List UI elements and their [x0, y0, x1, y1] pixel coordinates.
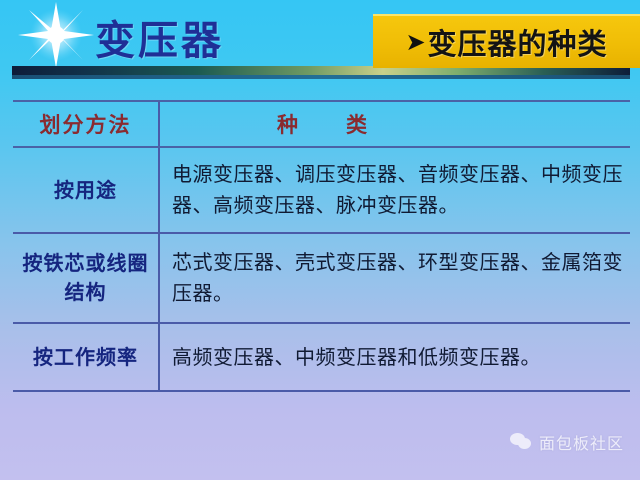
row-method-label: 按铁芯或线圈结构: [17, 249, 154, 307]
table-cell-method: 按用途: [13, 148, 160, 232]
row-method-label: 按工作频率: [33, 343, 138, 372]
table-cell-kinds: 芯式变压器、壳式变压器、环型变压器、金属箔变压器。: [160, 234, 630, 322]
table-row: 按铁芯或线圈结构 芯式变压器、壳式变压器、环型变压器、金属箔变压器。: [13, 234, 630, 324]
table-row: 按工作频率 高频变压器、中频变压器和低频变压器。: [13, 324, 630, 392]
row-kinds-text: 芯式变压器、壳式变压器、环型变压器、金属箔变压器。: [172, 247, 624, 309]
section-badge: ➤ 变压器的种类: [373, 14, 640, 68]
badge-arrow-icon: ➤: [405, 30, 425, 54]
badge-label: 变压器的种类: [428, 21, 608, 63]
row-kinds-text: 高频变压器、中频变压器和低频变压器。: [172, 342, 541, 373]
table-header-cell-method: 划分方法: [13, 102, 160, 146]
table-cell-kinds: 电源变压器、调压变压器、音频变压器、中频变压器、高频变压器、脉冲变压器。: [160, 148, 630, 232]
slide-header: 变压器 ➤ 变压器的种类: [0, 0, 640, 92]
row-method-label: 按用途: [54, 176, 117, 205]
table-cell-kinds: 高频变压器、中频变压器和低频变压器。: [160, 324, 630, 390]
starburst-icon: [18, 2, 94, 68]
wechat-icon: [510, 433, 532, 451]
table-cell-method: 按工作频率: [13, 324, 160, 390]
table-header-cell-kinds: 种 类: [160, 102, 630, 146]
watermark: 面包板社区: [510, 430, 624, 454]
table-cell-method: 按铁芯或线圈结构: [13, 234, 160, 322]
column-header-kinds: 种 类: [172, 109, 624, 139]
header-divider-underline: [12, 75, 630, 79]
column-header-method: 划分方法: [40, 109, 132, 139]
slide-canvas: 变压器 ➤ 变压器的种类 划分方法 种 类 按用途 电源变压器、调压变压器、音频…: [0, 0, 640, 480]
classification-table: 划分方法 种 类 按用途 电源变压器、调压变压器、音频变压器、中频变压器、高频变…: [13, 100, 630, 392]
watermark-text: 面包板社区: [539, 430, 624, 454]
table-row: 按用途 电源变压器、调压变压器、音频变压器、中频变压器、高频变压器、脉冲变压器。: [13, 148, 630, 234]
table-header-row: 划分方法 种 类: [13, 100, 630, 148]
page-title: 变压器: [95, 8, 224, 66]
row-kinds-text: 电源变压器、调压变压器、音频变压器、中频变压器、高频变压器、脉冲变压器。: [172, 159, 624, 221]
